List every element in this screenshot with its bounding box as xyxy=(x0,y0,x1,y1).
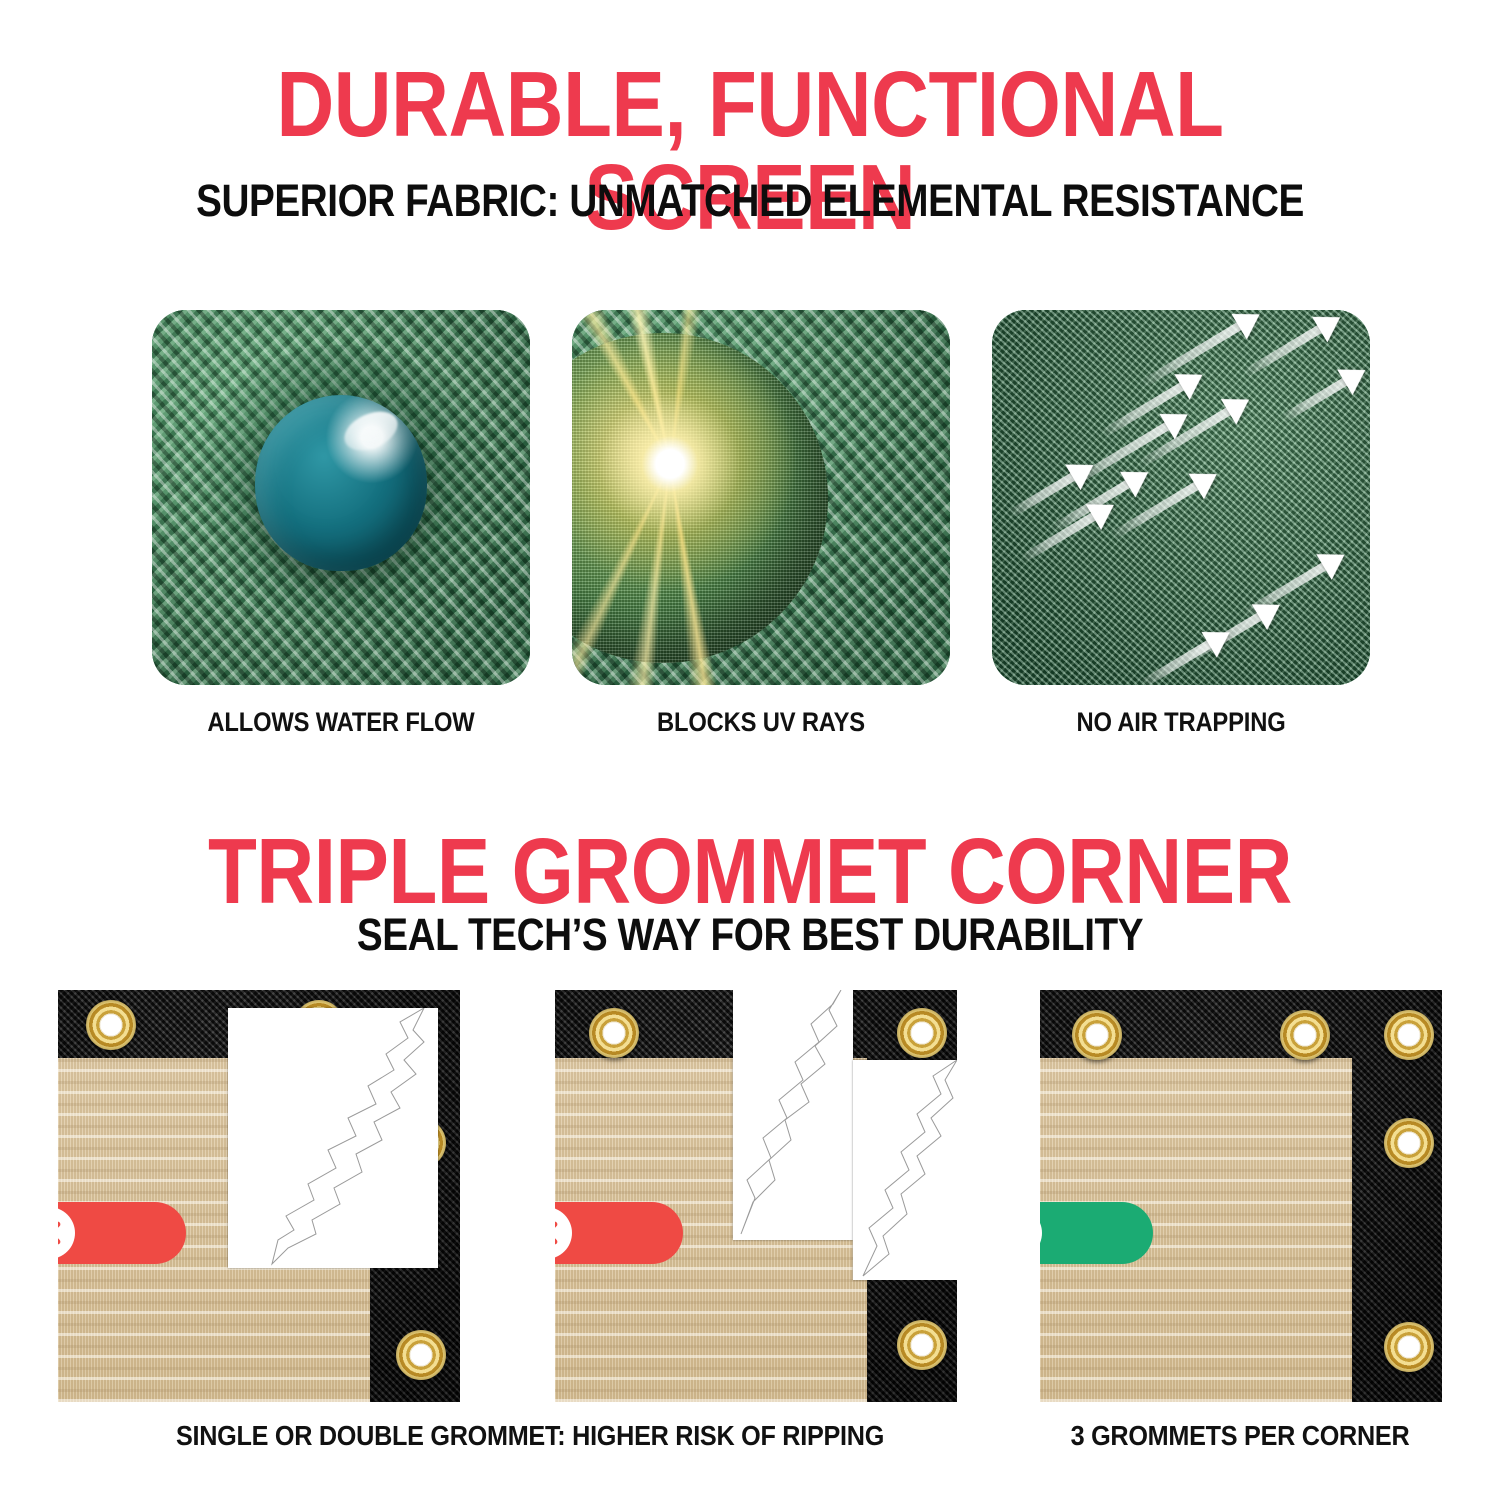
grommet-caption-right: 3 GROMMETS PER CORNER xyxy=(1033,1420,1447,1452)
uv-rays-on-mesh-photo xyxy=(572,310,950,685)
grommet-icon xyxy=(1072,1010,1122,1060)
grommet-icon xyxy=(897,1008,947,1058)
triple-grommet-panel xyxy=(1040,990,1442,1402)
status-badge xyxy=(58,1202,186,1264)
grommet-icon xyxy=(897,1320,947,1370)
grommet-icon xyxy=(1384,1118,1434,1168)
fabric-tear-icon xyxy=(733,990,853,1240)
grommet-icon xyxy=(1280,1010,1330,1060)
grommet-section-subtitle: SEAL TECH’S WAY FOR BEST DURABILITY xyxy=(105,912,1395,957)
double-grommet-panel xyxy=(555,990,957,1402)
single-grommet-panel xyxy=(58,990,460,1402)
x-mark-icon xyxy=(555,1207,572,1259)
fabric-feature-card: BLOCKS UV RAYS xyxy=(572,310,950,738)
grommet-icon xyxy=(396,1330,446,1380)
sun-flare-icon xyxy=(572,339,795,589)
fabric-section-subtitle: SUPERIOR FABRIC: UNMATCHED ELEMENTAL RES… xyxy=(105,178,1395,223)
fabric-tear-icon xyxy=(228,1008,438,1268)
fabric-feature-card: ALLOWS WATER FLOW xyxy=(152,310,530,738)
grommet-comparison-row xyxy=(0,990,1500,1490)
status-badge xyxy=(1040,1202,1153,1264)
grommet-icon xyxy=(589,1008,639,1058)
fabric-feature-row: ALLOWS WATER FLOW BLOCKS UV RAYS xyxy=(0,310,1500,730)
x-mark-icon xyxy=(58,1207,75,1259)
grommet-icon xyxy=(86,1000,136,1050)
fabric-feature-caption: BLOCKS UV RAYS xyxy=(595,707,928,738)
check-mark-icon xyxy=(1040,1207,1042,1259)
grommet-section-title: TRIPLE GROMMET CORNER xyxy=(105,825,1395,918)
grommet-icon xyxy=(1384,1322,1434,1372)
water-droplet-icon xyxy=(255,395,427,571)
airflow-arrows-through-mesh-photo xyxy=(992,310,1370,685)
grommet-caption-left: SINGLE OR DOUBLE GROMMET: HIGHER RISK OF… xyxy=(143,1420,917,1452)
fabric-feature-caption: ALLOWS WATER FLOW xyxy=(175,707,508,738)
water-droplet-on-mesh-photo xyxy=(152,310,530,685)
fabric-feature-card: NO AIR TRAPPING xyxy=(992,310,1370,738)
status-badge xyxy=(555,1202,683,1264)
fabric-tear-icon xyxy=(853,1060,957,1280)
grommet-icon xyxy=(1384,1010,1434,1060)
fabric-feature-caption: NO AIR TRAPPING xyxy=(1015,707,1348,738)
